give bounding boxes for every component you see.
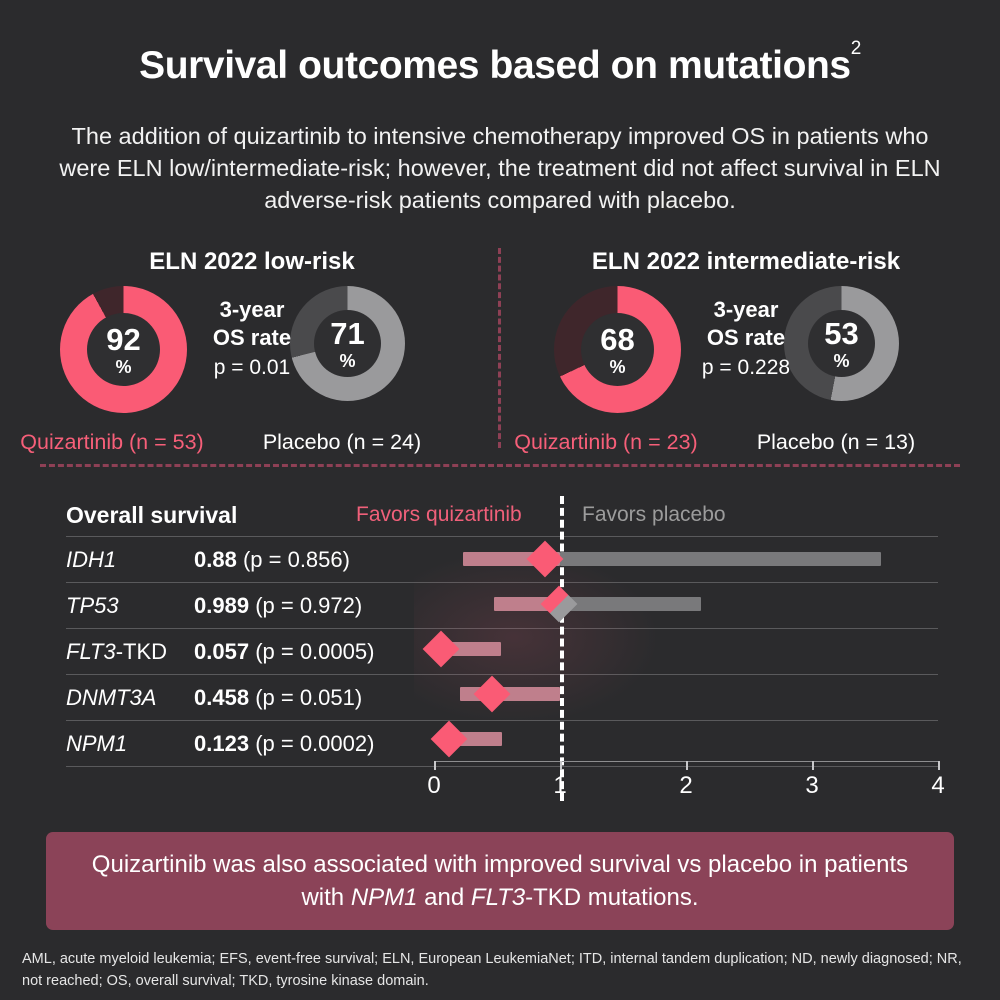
axis-tick-label: 0 [414,772,454,800]
hazard-ratio-pvalue: (p = 0.856) [243,547,350,572]
axis-tick-label: 3 [792,772,832,800]
donut-center: 53 % [808,310,875,377]
point-estimate-diamond [526,540,563,577]
reference-line [560,496,564,801]
stat-line-1: 3-year [182,296,322,324]
hazard-ratio-pvalue: (p = 0.0005) [255,639,374,664]
callout-text: Quizartinib was also associated with imp… [46,848,954,914]
favors-quizartinib-label: Favors quizartinib [356,503,522,527]
gene-suffix: -TKD [116,639,167,664]
gene-label: FLT3-TKD [66,639,167,665]
gene-name: TP53 [66,593,119,618]
point-estimate-diamond [540,585,577,622]
panel-stat-block: 3-year OS rate p = 0.228 [676,296,816,380]
gene-label: DNMT3A [66,685,156,711]
stat-line-2: OS rate [182,324,322,352]
donut-unit: % [115,358,131,376]
axis-tick-label: 2 [666,772,706,800]
point-estimate-diamond [473,675,510,712]
hazard-ratio-pvalue: (p = 0.0002) [255,731,374,756]
hazard-ratio-value: 0.88 [194,547,237,572]
hazard-ratio-cell: 0.123 (p = 0.0002) [194,731,374,757]
hazard-ratio-cell: 0.057 (p = 0.0005) [194,639,374,665]
axis-tick [434,761,436,770]
point-estimate-diamond [431,720,468,757]
hazard-ratio-value: 0.458 [194,685,249,710]
donut-label-placebo: Placebo (n = 13) [726,430,946,455]
callout-banner: Quizartinib was also associated with imp… [46,832,954,930]
page-title: Survival outcomes based on mutations2 [0,44,1000,88]
forest-header: Overall survival Favors quizartinib Favo… [66,498,938,536]
gene-name: NPM1 [66,731,127,756]
panel-stat-block: 3-year OS rate p = 0.01 [182,296,322,380]
hazard-ratio-cell: 0.989 (p = 0.972) [194,593,362,619]
hazard-ratio-pvalue: (p = 0.972) [255,593,362,618]
hazard-ratio-pvalue: (p = 0.051) [255,685,362,710]
forest-plot: Overall survival Favors quizartinib Favo… [66,498,938,818]
page-title-superscript: 2 [851,38,861,59]
gene-label: IDH1 [66,547,116,573]
donut-unit: % [339,352,355,370]
donut-quizartinib-low: 92 % [60,286,187,413]
gene-name: IDH1 [66,547,116,572]
stat-pvalue: p = 0.01 [182,356,322,380]
infographic-root: Survival outcomes based on mutations2 Th… [0,0,1000,1000]
favors-placebo-label: Favors placebo [582,503,726,527]
donut-chart: 92 % [60,286,187,413]
page-subtitle: The addition of quizartinib to intensive… [44,120,956,216]
forest-plot-area [434,536,938,761]
axis-tick-label: 4 [918,772,958,800]
hazard-ratio-value: 0.123 [194,731,249,756]
donut-label-placebo: Placebo (n = 24) [232,430,452,455]
donut-unit: % [833,352,849,370]
donut-label-quizartinib: Quizartinib (n = 53) [2,430,222,455]
axis-tick [560,761,562,770]
confidence-interval-bar [560,597,701,611]
hazard-ratio-value: 0.989 [194,593,249,618]
axis-tick-label: 1 [540,772,580,800]
hazard-ratio-cell: 0.458 (p = 0.051) [194,685,362,711]
footnote-abbreviations: AML, acute myeloid leukemia; EFS, event-… [22,948,962,992]
donut-center: 92 % [87,313,160,386]
gene-label: TP53 [66,593,119,619]
donut-chart: 68 % [554,286,681,413]
donut-unit: % [609,358,625,376]
donut-quizartinib-intermediate: 68 % [554,286,681,413]
hazard-ratio-value: 0.057 [194,639,249,664]
donut-value: 68 [600,324,634,355]
hazard-ratio-cell: 0.88 (p = 0.856) [194,547,350,573]
gene-name: DNMT3A [66,685,156,710]
forest-title: Overall survival [66,502,237,529]
panel-eln-low-risk: ELN 2022 low-risk 92 % 71 % 3-year OS ra… [22,248,482,443]
confidence-interval-bar [560,552,881,566]
axis-tick [686,761,688,770]
gene-name: FLT3 [66,639,116,664]
callout-gene-flt3: FLT3 [471,884,525,911]
donut-value: 92 [106,324,140,355]
donut-value: 71 [330,318,364,349]
donut-center: 71 % [314,310,381,377]
axis-tick [938,761,940,770]
donut-value: 53 [824,318,858,349]
gene-label: NPM1 [66,731,127,757]
donut-label-quizartinib: Quizartinib (n = 23) [496,430,716,455]
stat-line-1: 3-year [676,296,816,324]
panel-title: ELN 2022 low-risk [22,248,482,276]
axis-tick [812,761,814,770]
callout-part-3: -TKD mutations. [525,884,698,911]
forest-axis: 01234 [434,761,938,811]
donut-center: 68 % [581,313,654,386]
vertical-dashed-divider [498,248,501,448]
stat-line-2: OS rate [676,324,816,352]
page-title-text: Survival outcomes based on mutations [139,44,851,87]
stat-pvalue: p = 0.228 [676,356,816,380]
callout-part-2: and [418,884,471,911]
callout-gene-npm1: NPM1 [351,884,418,911]
panel-eln-intermediate-risk: ELN 2022 intermediate-risk 68 % 53 % 3-y… [516,248,976,443]
horizontal-dashed-divider [40,464,960,467]
panel-title: ELN 2022 intermediate-risk [516,248,976,276]
